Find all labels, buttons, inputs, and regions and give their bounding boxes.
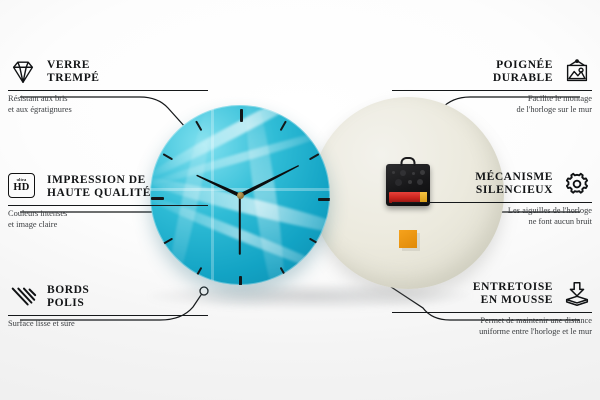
hd-badge-bottom: HD (13, 183, 29, 194)
feature-desc: Couleurs intenses et image claire (8, 209, 208, 230)
divider (392, 312, 592, 313)
hanger-hook-icon (401, 157, 416, 166)
feature-desc: Les aiguilles de l'horloge ne font aucun… (392, 206, 592, 227)
feature-title: MÉCANISME SILENCIEUX (475, 171, 553, 197)
second-hand (239, 195, 241, 255)
feature-title: POIGNÉE DURABLE (493, 59, 553, 85)
feature-desc: Résistant aux bris et aux égratignures (8, 94, 208, 115)
feature-title: BORDS POLIS (47, 284, 89, 310)
feature-mecanisme-silencieux: MÉCANISME SILENCIEUX Les aiguilles de l'… (392, 170, 592, 227)
diamond-icon (8, 58, 38, 86)
feature-entretoise-en-mousse: ENTRETOISE EN MOUSSE Permet de maintenir… (392, 280, 592, 337)
gear-icon (562, 170, 592, 198)
feature-title: ENTRETOISE EN MOUSSE (473, 281, 553, 307)
feature-impression-haute-qualite: ultra HD IMPRESSION DE HAUTE QUALITÉ Cou… (8, 173, 208, 230)
divider (8, 205, 208, 206)
divider (392, 90, 592, 91)
clock-tick (241, 198, 330, 200)
picture-hanger-icon (562, 58, 592, 86)
ultra-hd-icon: ultra HD (8, 173, 38, 201)
feature-title: VERRE TREMPÉ (47, 59, 100, 85)
divider (8, 315, 208, 316)
polished-edges-icon (8, 283, 38, 311)
feature-bords-polis: BORDS POLIS Surface lisse et sûre (8, 283, 208, 330)
foam-spacer-icon (562, 280, 592, 308)
divider (392, 202, 592, 203)
hand-cap (237, 192, 244, 199)
foam-spacer (399, 230, 417, 248)
feature-desc: Facilite le montage de l'horloge sur le … (392, 94, 592, 115)
feature-desc: Permet de maintenir une distance uniform… (392, 316, 592, 337)
feature-verre-trempe: VERRE TREMPÉ Résistant aux bris et aux é… (8, 58, 208, 115)
feature-title: IMPRESSION DE HAUTE QUALITÉ (47, 174, 151, 200)
feature-poignee-durable: POIGNÉE DURABLE Facilite le montage de l… (392, 58, 592, 115)
divider (8, 90, 208, 91)
feature-desc: Surface lisse et sûre (8, 319, 208, 329)
infographic-stage: VERRE TREMPÉ Résistant aux bris et aux é… (0, 0, 600, 400)
clock-tick (240, 109, 242, 199)
